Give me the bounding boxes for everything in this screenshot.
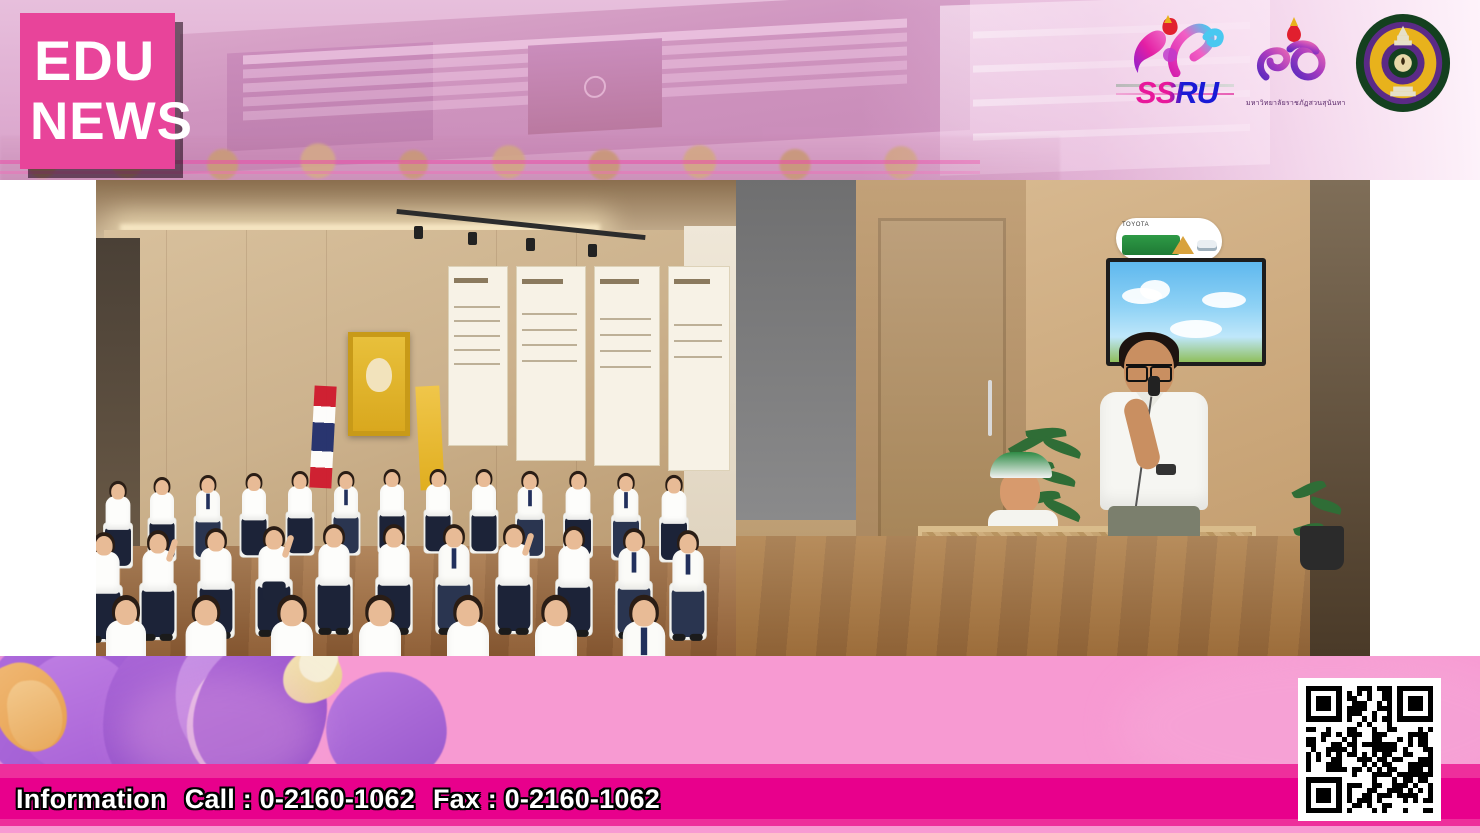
information-label: Information: [16, 784, 167, 815]
edu-news-line1: EDU: [28, 34, 175, 89]
call-label: Call : 0-2160-1062: [185, 784, 415, 815]
header-stripe-2: [0, 171, 980, 174]
photo-strip: TOYOTA: [0, 180, 1480, 656]
logo-group: SSRU มหาวิทยาลัยราชภัฏสวนสุนันทา: [1120, 6, 1452, 120]
wristwatch: [1156, 464, 1176, 475]
thai-logo-subtitle: มหาวิทยาลัยราชภัฏสวนสุนันทา: [1246, 98, 1338, 109]
news-banner-page: EDU NEWS: [0, 0, 1480, 833]
edu-news-badge: EDU NEWS: [20, 13, 175, 169]
plant-pot: [1300, 526, 1344, 570]
header-banner: EDU NEWS: [0, 0, 1480, 182]
university-seal-icon: [1354, 12, 1452, 114]
group-photo-students: [96, 180, 736, 656]
eyeglasses-icon: [1126, 364, 1172, 376]
footer-contact-text: Information Call : 0-2160-1062 Fax : 0-2…: [16, 780, 660, 818]
qr-code[interactable]: [1298, 678, 1441, 821]
microphone-icon: [1148, 376, 1160, 396]
ssru-emblem-icon: [1120, 15, 1230, 77]
footer-stripe-light: [0, 826, 1480, 833]
building-seal-icon: [584, 75, 606, 98]
door-handle: [988, 380, 992, 436]
toyota-green-town-badge: TOYOTA: [1116, 218, 1222, 260]
ssru-logo: SSRU: [1120, 15, 1230, 111]
fax-label: Fax : 0-2160-1062: [433, 784, 660, 815]
presenter-photo: TOYOTA: [736, 180, 1370, 656]
footer-stripe-top: [0, 764, 1480, 778]
building-signboard: [528, 38, 662, 135]
toyota-badge-brand: TOYOTA: [1122, 222, 1149, 228]
thai-emblem-logo: มหาวิทยาลัยราชภัฏสวนสุนันทา: [1246, 15, 1338, 111]
footer-stripe-bottom: [0, 819, 1480, 826]
flower-decoration-strip: [0, 656, 1480, 764]
thai-script-emblem-icon: [1246, 15, 1338, 93]
edu-news-line2: NEWS: [28, 96, 175, 148]
student-group: [96, 350, 736, 600]
ssru-wordmark: SSRU: [1124, 75, 1230, 111]
qr-code-matrix: [1306, 686, 1433, 813]
green-cap: [990, 452, 1052, 478]
